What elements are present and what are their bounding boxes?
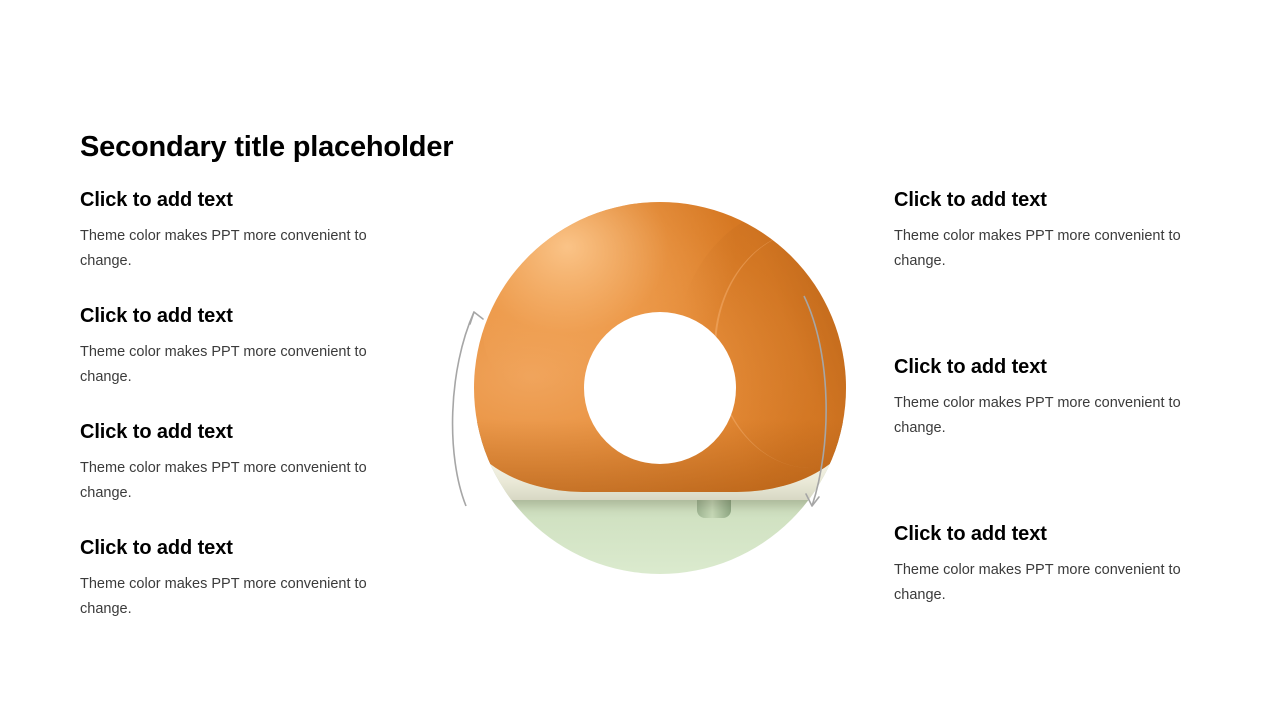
left-block-2-body[interactable]: Theme color makes PPT more convenient to… <box>80 340 380 390</box>
left-block-1[interactable]: Click to add text Theme color makes PPT … <box>80 189 390 274</box>
left-block-1-heading[interactable]: Click to add text <box>80 189 390 212</box>
left-block-3[interactable]: Click to add text Theme color makes PPT … <box>80 421 390 506</box>
right-block-2-heading[interactable]: Click to add text <box>894 356 1204 379</box>
slide-canvas: Secondary title placeholder Click to add… <box>0 0 1280 720</box>
left-arrow-path <box>453 312 474 506</box>
left-block-2-heading[interactable]: Click to add text <box>80 305 390 328</box>
center-graphic <box>440 198 840 578</box>
left-block-3-heading[interactable]: Click to add text <box>80 421 390 444</box>
right-block-1-body[interactable]: Theme color makes PPT more convenient to… <box>894 224 1194 274</box>
right-block-3[interactable]: Click to add text Theme color makes PPT … <box>894 523 1204 608</box>
left-block-3-body[interactable]: Theme color makes PPT more convenient to… <box>80 456 380 506</box>
page-title: Secondary title placeholder <box>80 131 453 164</box>
right-block-1[interactable]: Click to add text Theme color makes PPT … <box>894 189 1204 274</box>
left-block-4-heading[interactable]: Click to add text <box>80 537 390 560</box>
left-block-2[interactable]: Click to add text Theme color makes PPT … <box>80 305 390 390</box>
right-block-3-heading[interactable]: Click to add text <box>894 523 1204 546</box>
right-block-1-heading[interactable]: Click to add text <box>894 189 1204 212</box>
left-block-4-body[interactable]: Theme color makes PPT more convenient to… <box>80 572 380 622</box>
right-block-3-body[interactable]: Theme color makes PPT more convenient to… <box>894 558 1194 608</box>
right-block-2[interactable]: Click to add text Theme color makes PPT … <box>894 356 1204 441</box>
donut-illustration <box>474 202 846 574</box>
right-block-2-body[interactable]: Theme color makes PPT more convenient to… <box>894 391 1194 441</box>
donut-center-hole <box>584 312 736 464</box>
left-block-4[interactable]: Click to add text Theme color makes PPT … <box>80 537 390 622</box>
left-block-1-body[interactable]: Theme color makes PPT more convenient to… <box>80 224 380 274</box>
